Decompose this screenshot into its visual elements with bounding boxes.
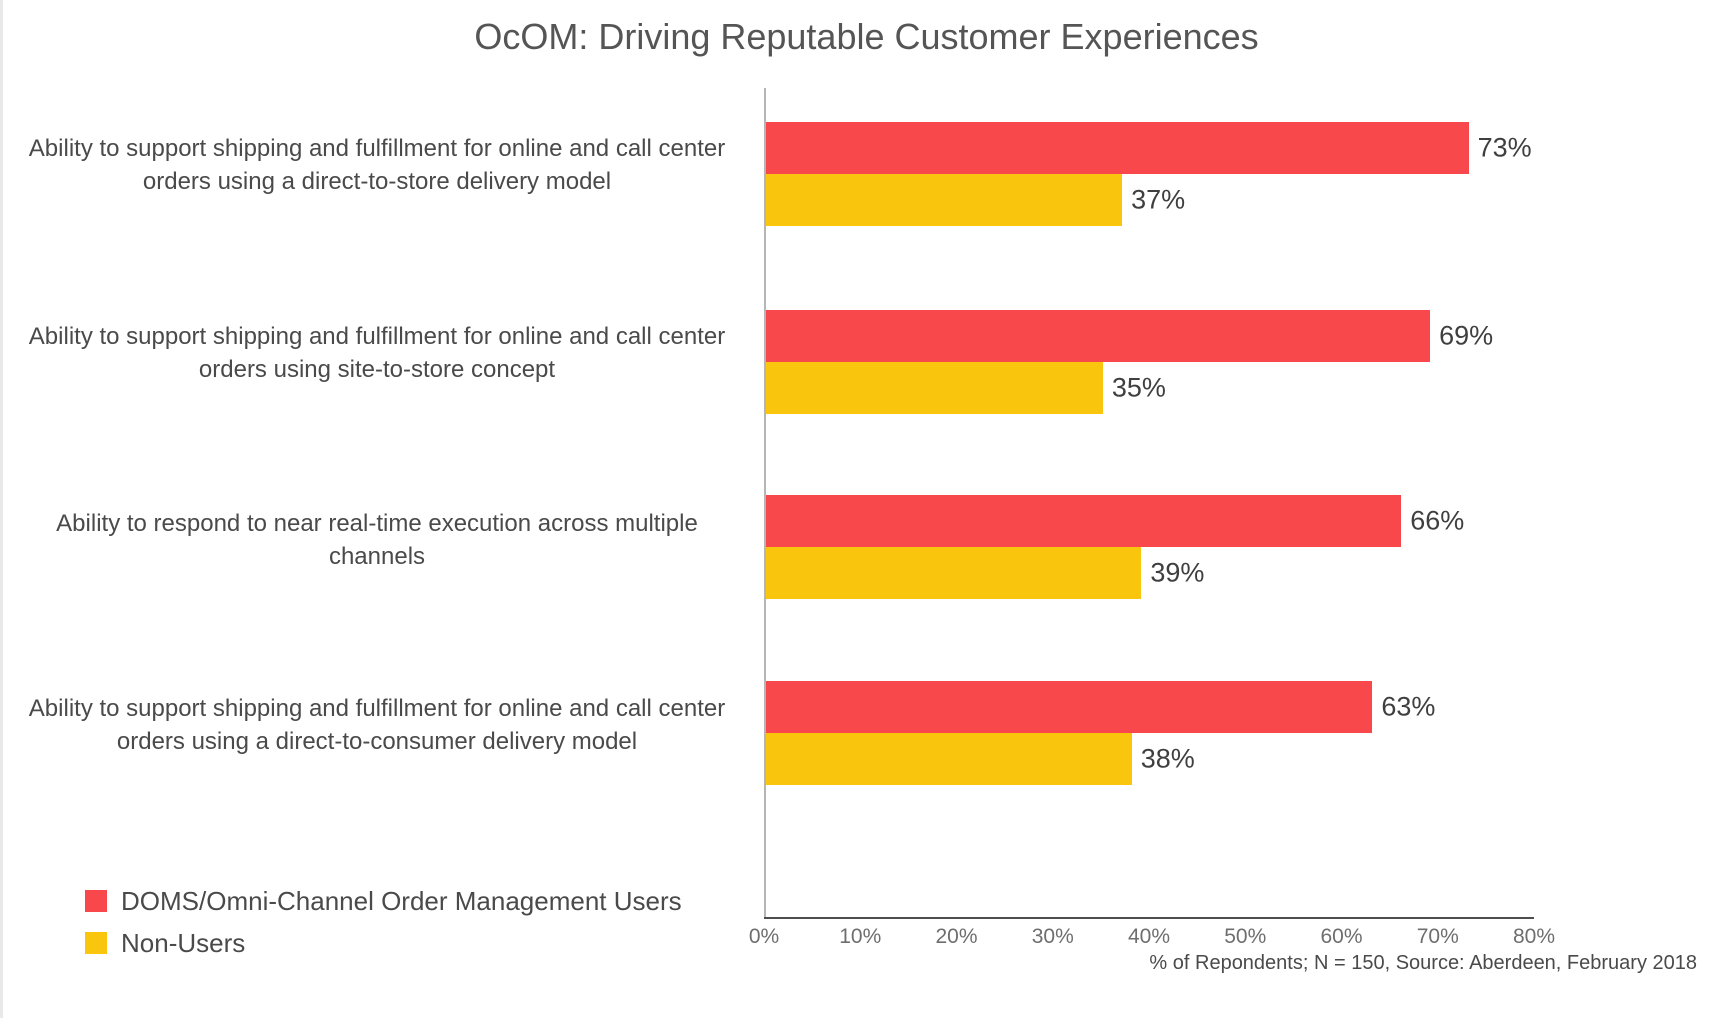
legend-swatch-icon-nonusers (85, 932, 107, 954)
x-tick-label: 70% (1417, 925, 1459, 949)
x-axis-ticks: 0%10%20%30%40%50%60%70%80% (764, 925, 1554, 955)
plot-area: 73% 37% 69% 35% 66% 39% (764, 88, 1534, 918)
x-tick-label: 20% (935, 925, 977, 949)
x-tick-label: 0% (749, 925, 779, 949)
bar-users-2[interactable]: 69% (766, 310, 1430, 362)
bar-value-users-1: 73% (1478, 133, 1532, 164)
legend-label-users: DOMS/Omni-Channel Order Management Users (121, 886, 682, 917)
bar-value-nonusers-4: 38% (1141, 744, 1195, 775)
x-tick-label: 10% (839, 925, 881, 949)
category-label-2: Ability to support shipping and fulfillm… (3, 320, 751, 386)
legend-swatch-icon-users (85, 890, 107, 912)
bar-nonusers-4[interactable]: 38% (766, 733, 1132, 785)
x-tick-label: 30% (1032, 925, 1074, 949)
legend-item-nonusers[interactable]: Non-Users (85, 922, 682, 964)
x-tick-label: 50% (1224, 925, 1266, 949)
category-label-1: Ability to support shipping and fulfillm… (3, 132, 751, 198)
bar-users-3[interactable]: 66% (766, 495, 1401, 547)
bar-nonusers-3[interactable]: 39% (766, 547, 1141, 599)
x-axis-line (764, 917, 1534, 919)
bar-value-users-2: 69% (1439, 321, 1493, 352)
bar-value-nonusers-3: 39% (1150, 558, 1204, 589)
bar-value-nonusers-1: 37% (1131, 185, 1185, 216)
bar-value-nonusers-2: 35% (1112, 373, 1166, 404)
page-title: OcOM: Driving Reputable Customer Experie… (3, 16, 1727, 58)
bar-users-1[interactable]: 73% (766, 122, 1469, 174)
category-label-3: Ability to respond to near real-time exe… (3, 507, 751, 573)
legend-label-nonusers: Non-Users (121, 928, 245, 959)
bar-nonusers-1[interactable]: 37% (766, 174, 1122, 226)
category-label-4: Ability to support shipping and fulfillm… (3, 692, 751, 758)
x-tick-label: 40% (1128, 925, 1170, 949)
legend-item-users[interactable]: DOMS/Omni-Channel Order Management Users (85, 880, 682, 922)
x-tick-label: 80% (1513, 925, 1555, 949)
legend: DOMS/Omni-Channel Order Management Users… (85, 880, 682, 964)
bar-value-users-4: 63% (1381, 692, 1435, 723)
bar-value-users-3: 66% (1410, 506, 1464, 537)
x-tick-label: 60% (1320, 925, 1362, 949)
bar-nonusers-2[interactable]: 35% (766, 362, 1103, 414)
chart-page: OcOM: Driving Reputable Customer Experie… (0, 0, 1727, 1018)
bar-users-4[interactable]: 63% (766, 681, 1372, 733)
footnote: % of Repondents; N = 150, Source: Aberde… (1149, 952, 1697, 975)
